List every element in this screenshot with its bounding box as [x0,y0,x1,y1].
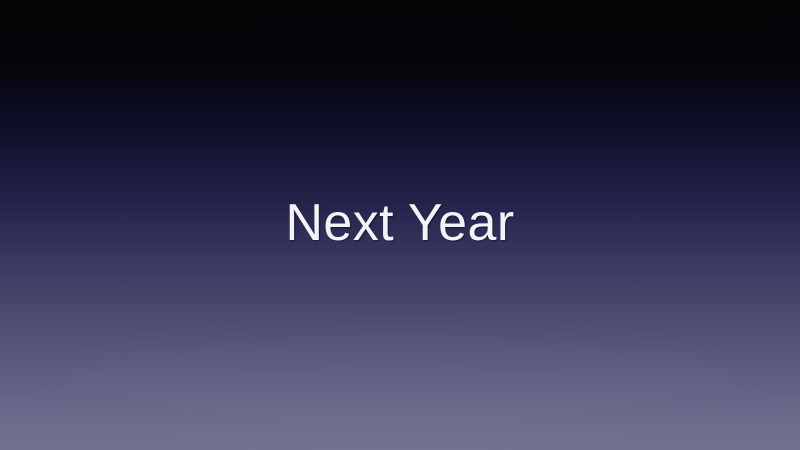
slide-title-container: Next Year [0,0,800,450]
slide-title: Next Year [285,197,514,249]
presentation-slide: Next Year [0,0,800,450]
